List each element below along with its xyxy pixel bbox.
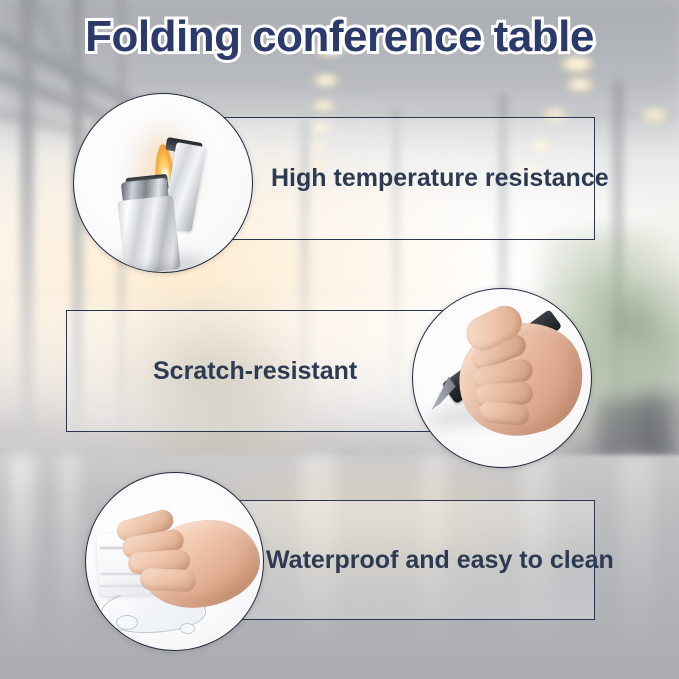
feature-box-3: Waterproof and easy to clean [215, 500, 595, 620]
lighter-body [117, 195, 180, 273]
floor-reflection [8, 455, 34, 679]
feature-label-high-temperature-resistance: High temperature resistance [271, 164, 609, 193]
product-feature-infographic: Folding conference table High temperatur… [0, 0, 679, 679]
water-droplet [116, 615, 138, 630]
office-chair-blur [612, 300, 654, 340]
floor-reflection [620, 455, 654, 679]
feature-label-scratch-resistant: Scratch-resistant [153, 357, 357, 386]
feature-box-2: Scratch-resistant [66, 310, 455, 432]
floor-reflection [60, 455, 78, 679]
utility-knife-photo [412, 288, 592, 468]
lighter-flame-photo [73, 93, 253, 273]
ceiling-spot-light [566, 78, 594, 92]
cloth-wipe-photo [85, 472, 264, 651]
window-mullion [20, 0, 34, 489]
feature-box-1: High temperature resistance [215, 117, 595, 240]
ceiling-spot-light [313, 74, 339, 87]
water-droplet [180, 623, 195, 634]
page-title: Folding conference table [0, 12, 679, 62]
feature-label-waterproof-and-easy-to-clean: Waterproof and easy to clean [266, 546, 614, 575]
finger [139, 568, 196, 593]
